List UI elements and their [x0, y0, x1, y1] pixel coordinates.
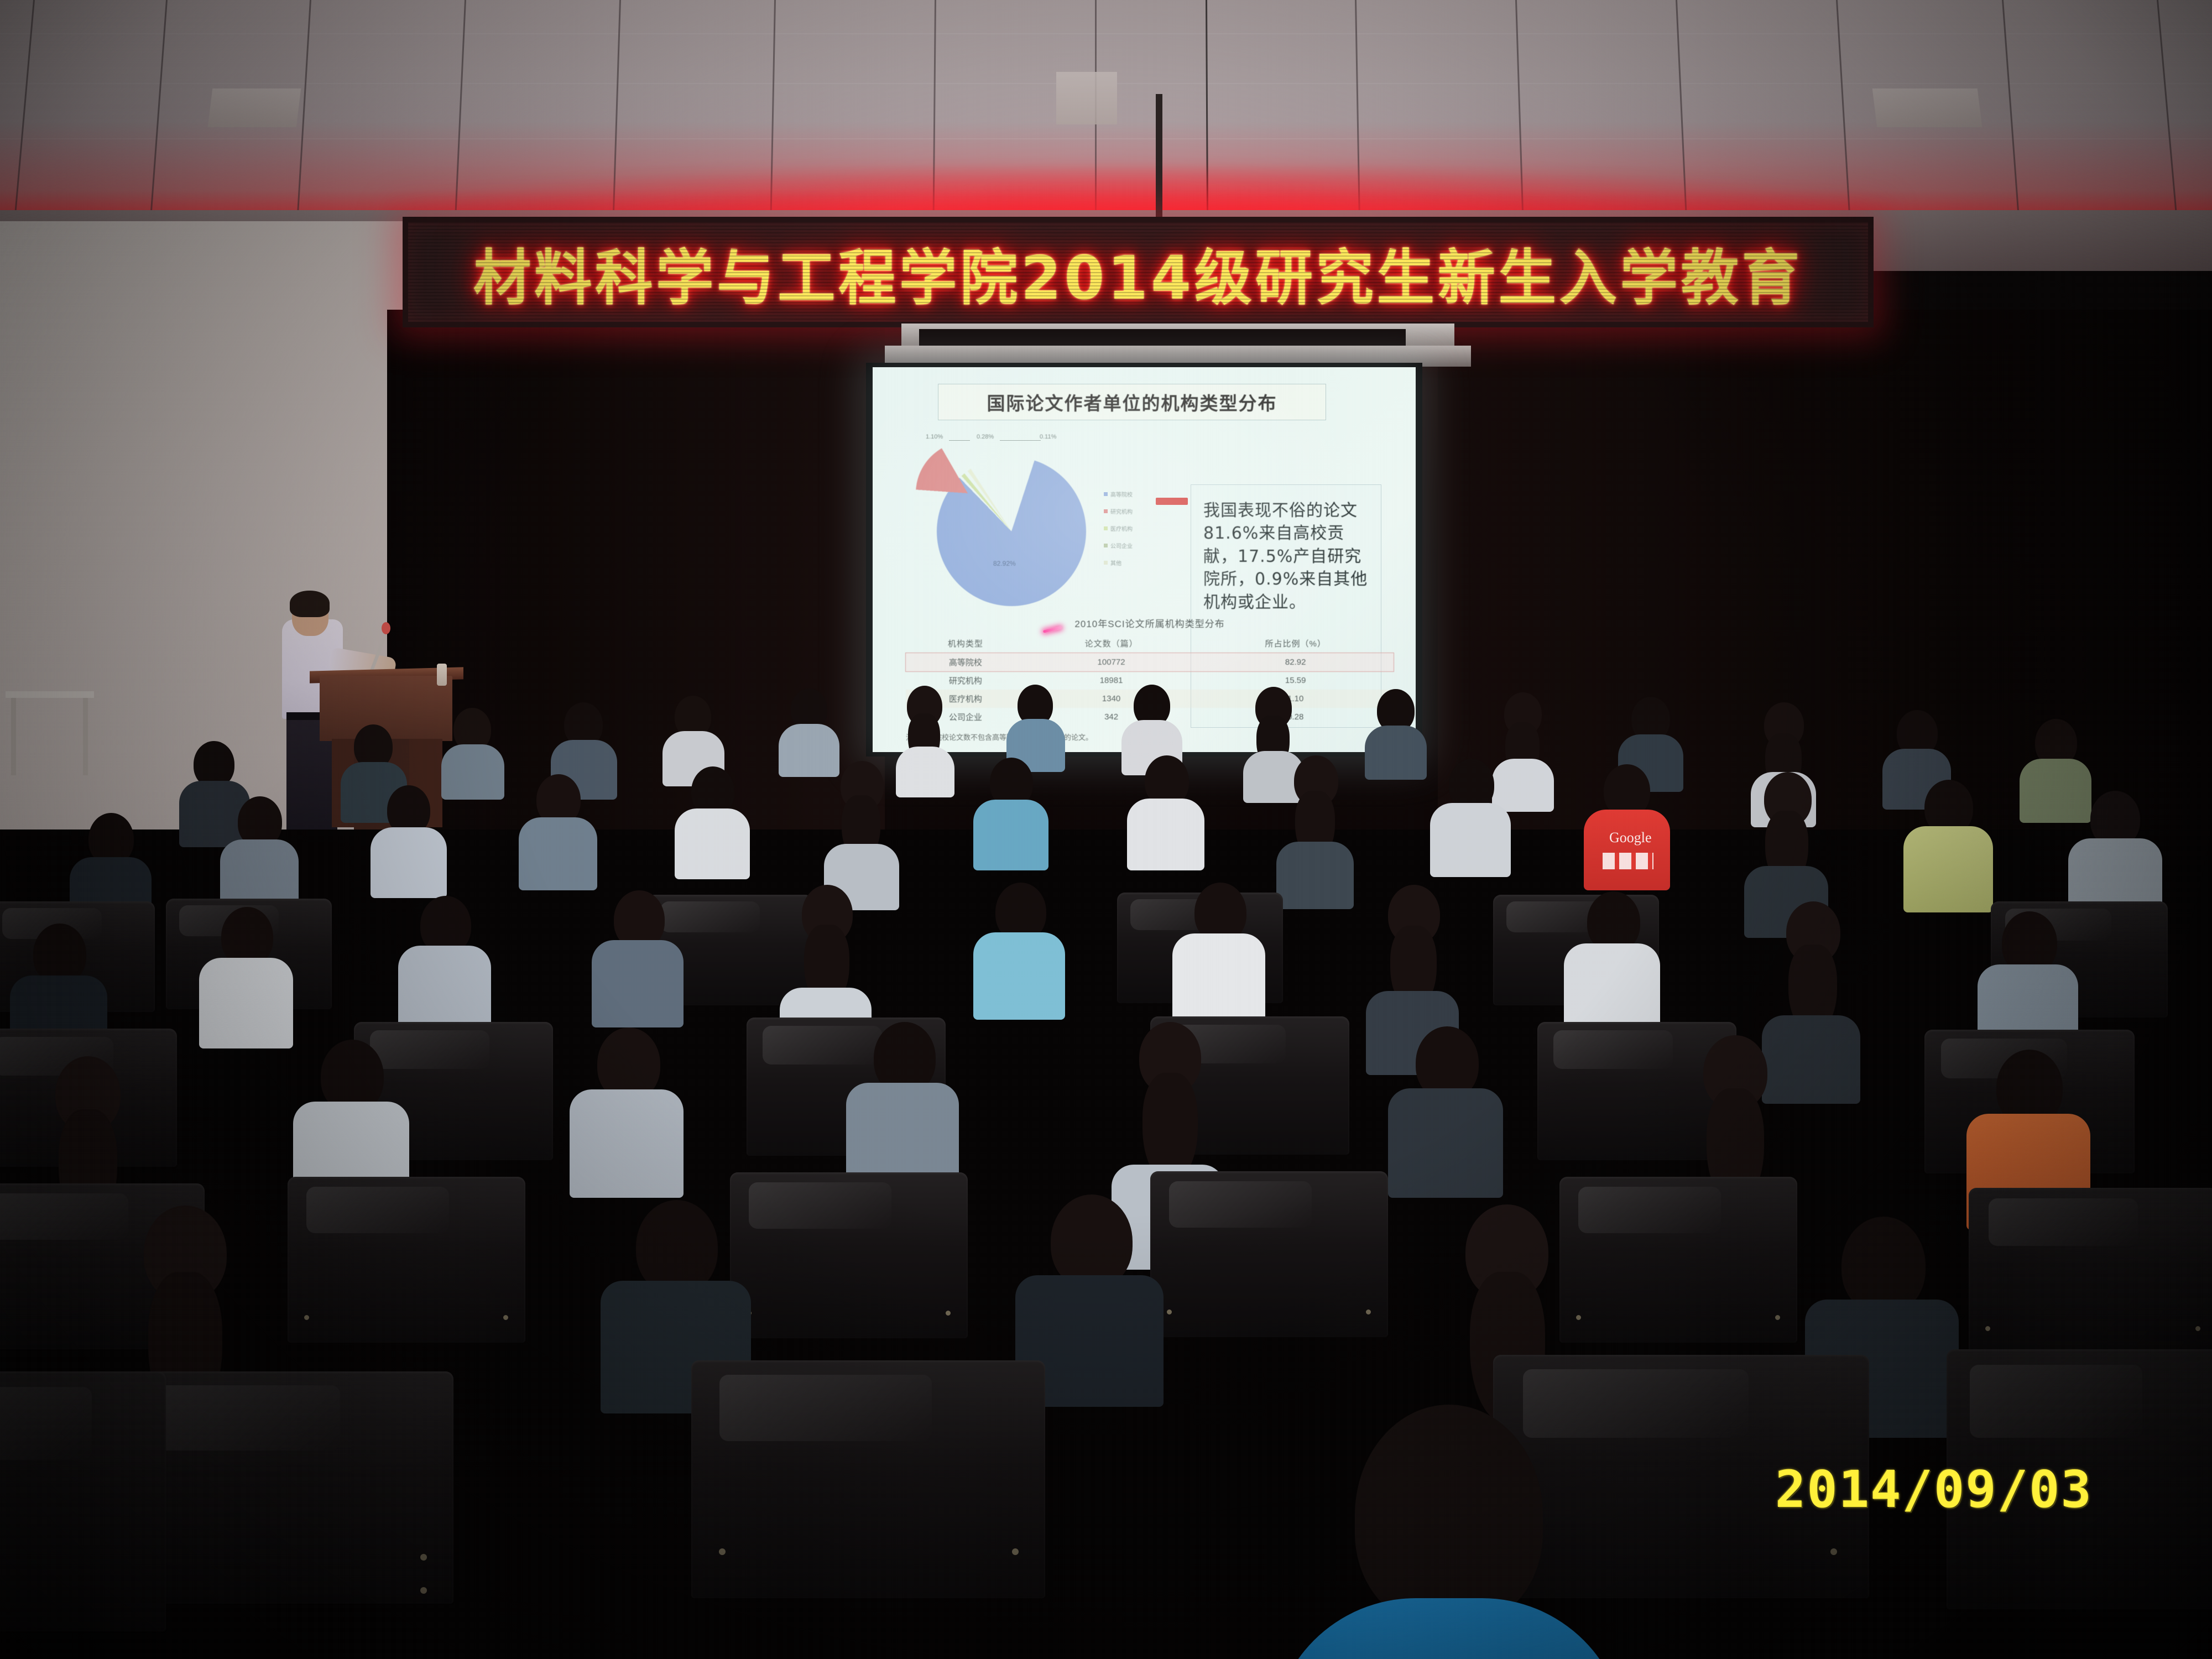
person-torso: [570, 1089, 684, 1198]
auditorium-seat[interactable]: [1150, 1171, 1388, 1337]
person-torso: [1492, 759, 1554, 812]
person-torso-blue: [1272, 1598, 1626, 1659]
water-bottle: [437, 664, 447, 686]
table-cell: 15.59: [1197, 671, 1394, 690]
table-header-cell: 所占比例（%）: [1197, 634, 1394, 653]
callout-marker-icon: [1156, 498, 1188, 505]
person-torso: [973, 932, 1065, 1020]
table-header-row: 机构类型 论文数（篇） 所占比例（%）: [906, 634, 1394, 653]
legend-swatch-icon: [1104, 492, 1108, 496]
pie-slice-research-exploded: [916, 441, 1020, 545]
person-torso-olive: [1903, 826, 1993, 912]
person-torso: [896, 747, 954, 797]
legend-item: 高等院校: [1104, 490, 1170, 498]
person-torso: [371, 827, 447, 898]
person-torso: [2020, 759, 2091, 823]
table-header-cell: 机构类型: [906, 634, 1025, 653]
person-head: [636, 1200, 718, 1294]
person-torso: [592, 940, 684, 1027]
pie-chart: 1.10% 0.28% 0.11% 82.92%: [906, 434, 1105, 616]
person-torso: [1365, 726, 1427, 780]
microphone-icon: [382, 622, 390, 634]
person-torso: [973, 800, 1048, 870]
slide-callout-text: 我国表现不俗的论文81.6%来自高校贡献，17.5%产自研究院所，0.9%来自其…: [1203, 499, 1369, 614]
auditorium-seat[interactable]: [1969, 1188, 2212, 1359]
person-torso: [779, 724, 839, 777]
av-table: [6, 691, 94, 698]
legend-swatch-icon: [1104, 509, 1108, 513]
auditorium-seat[interactable]: [691, 1360, 1045, 1598]
table-cell: 18981: [1025, 671, 1198, 690]
legend-item: 研究机构: [1104, 507, 1170, 515]
slide-table-title: 2010年SCI论文所属机构类型分布: [906, 616, 1394, 630]
person-torso: [199, 958, 293, 1048]
pie-label-medical: 1.10%: [926, 434, 943, 440]
table-header-cell: 论文数（篇）: [1025, 634, 1198, 653]
person-head: [1355, 1405, 1543, 1626]
ceiling-vent-left: [208, 88, 301, 127]
pie-label-other: 0.11%: [1040, 434, 1056, 440]
shirt-graphic: [1603, 853, 1653, 869]
person-torso: [1762, 1015, 1860, 1104]
pie-leader-line-2: [1000, 440, 1041, 441]
legend-swatch-icon: [1104, 561, 1108, 565]
person-torso: [1276, 842, 1354, 909]
person-torso: [398, 946, 491, 1034]
led-banner: 材料科学与工程学院2014级研究生新生入学教育: [403, 217, 1874, 327]
ceiling: [0, 0, 2212, 221]
auditorium-seat[interactable]: [0, 1371, 166, 1631]
person-torso: [1430, 803, 1511, 877]
auditorium-photo: 材料科学与工程学院2014级研究生新生入学教育 国际论文作者单位的机构类型分布 …: [0, 0, 2212, 1659]
person-torso: [1172, 933, 1265, 1022]
legend-label: 研究机构: [1110, 507, 1133, 515]
ceiling-vent-right: [1872, 88, 1983, 127]
person-torso: [519, 817, 597, 890]
legend-item: 医疗机构: [1104, 524, 1170, 533]
person-torso: [675, 808, 750, 879]
legend-label: 高等院校: [1110, 490, 1133, 498]
slide-title-box: 国际论文作者单位的机构类型分布: [938, 384, 1326, 420]
table-cell: 82.92: [1197, 653, 1394, 672]
person-torso: [1127, 799, 1204, 870]
auditorium-seat[interactable]: [1559, 1177, 1797, 1343]
pie-label-university: 82.92%: [993, 560, 1016, 567]
legend-swatch-icon: [1104, 526, 1108, 530]
table-cell: 1.10: [1197, 690, 1394, 708]
table-cell: 100772: [1025, 653, 1198, 672]
legend-label: 医疗机构: [1110, 524, 1133, 533]
slide-title: 国际论文作者单位的机构类型分布: [987, 389, 1277, 415]
legend-label: 公司企业: [1110, 541, 1133, 550]
auditorium-seat[interactable]: [288, 1177, 525, 1343]
speaker-hair: [290, 591, 330, 617]
pie-leader-line-1: [949, 440, 970, 441]
person-head: [1051, 1194, 1133, 1288]
ceiling-vent-center: [1056, 72, 1117, 124]
person-torso: [1388, 1088, 1503, 1198]
pie-label-company: 0.28%: [977, 434, 994, 440]
camera-date-stamp: 2014/09/03: [1775, 1460, 2093, 1519]
led-scanlines: [408, 222, 1868, 322]
legend-swatch-icon: [1104, 544, 1108, 547]
legend-item: 其他: [1104, 559, 1170, 567]
auditorium-seat[interactable]: [730, 1172, 968, 1338]
table-row: 高等院校 100772 82.92: [906, 653, 1394, 672]
person-torso-red: [1584, 810, 1670, 890]
google-logo-text: Google: [1609, 830, 1652, 846]
legend-item: 公司企业: [1104, 541, 1170, 550]
table-cell: 高等院校: [906, 653, 1025, 672]
legend-label: 其他: [1110, 559, 1121, 567]
person-torso: [441, 744, 504, 800]
